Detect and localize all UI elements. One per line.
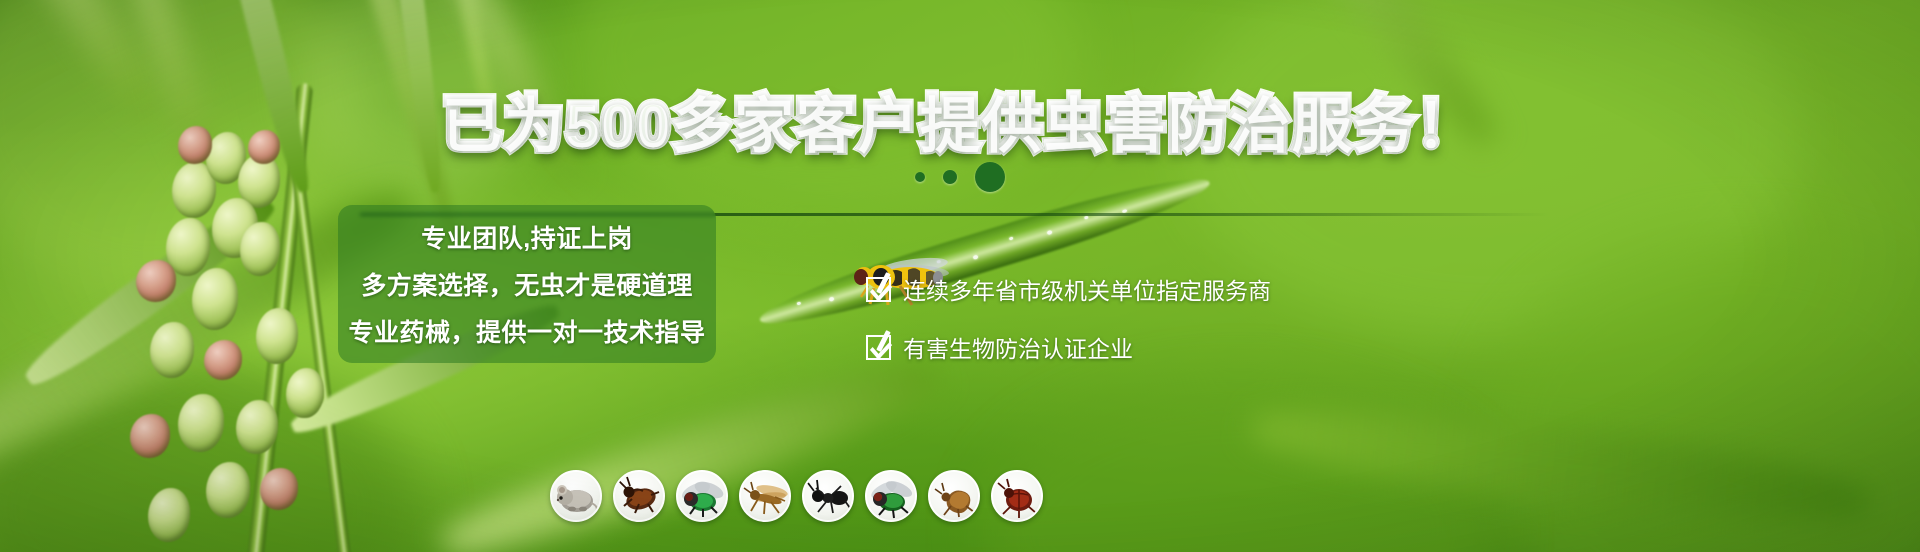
cockroach-icon[interactable] (613, 470, 665, 522)
credential-item: 连续多年省市级机关单位指定服务商 (866, 272, 1271, 306)
credentials-list: 连续多年省市级机关单位指定服务商 有害生物防治认证企业 (866, 272, 1271, 364)
selling-points-panel: 专业团队,持证上岗 多方案选择，无虫才是硬道理 专业药械，提供一对一技术指导 (338, 205, 716, 363)
page-title: 已为500多家客户提供虫害防治服务！ (0, 76, 1920, 163)
bedbug-icon[interactable] (991, 470, 1043, 522)
housefly-icon[interactable] (865, 470, 917, 522)
credential-label: 有害生物防治认证企业 (903, 330, 1133, 364)
dot-large-icon (975, 162, 1005, 192)
pest-control-banner: 已为500多家客户提供虫害防治服务！ 已为500多家客户提供虫害防治服务！ 专业… (0, 0, 1920, 552)
selling-point-2: 多方案选择，无虫才是硬道理 (361, 266, 693, 302)
checkbox-checked-icon (866, 335, 891, 360)
rodent-icon[interactable] (550, 470, 602, 522)
selling-point-3: 专业药械，提供一对一技术指导 (348, 313, 705, 349)
credential-item: 有害生物防治认证企业 (866, 330, 1271, 364)
credential-label: 连续多年省市级机关单位指定服务商 (903, 272, 1271, 306)
checkbox-checked-icon (866, 277, 891, 302)
decorative-dots (0, 162, 1920, 192)
selling-point-1: 专业团队,持证上岗 (421, 219, 632, 255)
dot-small-icon (915, 172, 925, 182)
pest-types-strip (550, 470, 1043, 522)
flea-icon[interactable] (928, 470, 980, 522)
green-fly-icon[interactable] (676, 470, 728, 522)
mosquito-icon[interactable] (739, 470, 791, 522)
dot-medium-icon (943, 170, 957, 184)
ant-icon[interactable] (802, 470, 854, 522)
